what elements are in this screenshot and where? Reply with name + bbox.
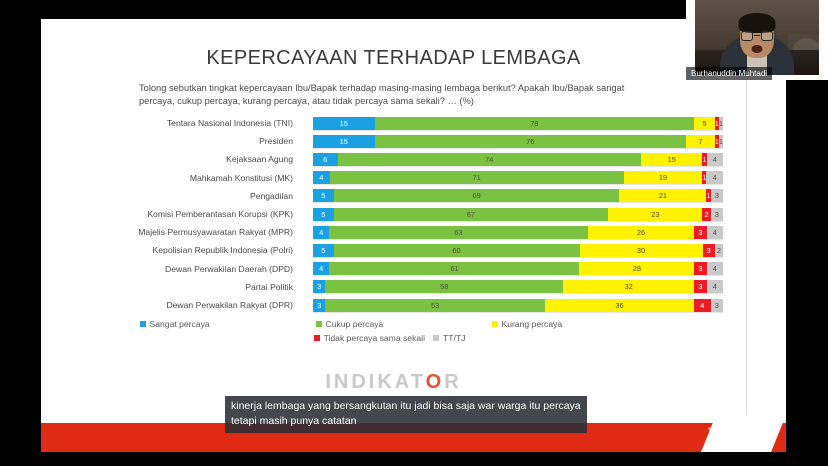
chart-row: Presiden1576711: [41, 132, 746, 150]
stacked-bar: 4711914: [313, 171, 723, 184]
bar-segment: 74: [338, 153, 641, 166]
chart-row: Majelis Permusyawaratan Rakyat (MPR)4632…: [41, 223, 746, 241]
bar-segment: 5: [313, 244, 334, 257]
chart-row: Pengadilan5692113: [41, 187, 746, 205]
stacked-bar: 5692113: [313, 189, 723, 202]
bar-segment: 78: [375, 117, 695, 130]
participant-name-label: Burhanuddin Muhtadi: [686, 67, 772, 80]
category-label: Kepolisian Republik Indonesia (Polri): [41, 241, 301, 259]
category-label: Kejaksaan Agung: [41, 150, 301, 168]
legend-swatch-icon: [140, 321, 146, 327]
bar-segment: 1: [719, 135, 723, 148]
bar-segment: 2: [715, 244, 723, 257]
bar-segment: 6: [313, 153, 338, 166]
chart-row: Kepolisian Republik Indonesia (Polri)560…: [41, 241, 746, 259]
bar-segment: 3: [313, 299, 325, 312]
bar-segment: 53: [325, 299, 544, 312]
watermark-post: R: [444, 371, 461, 393]
legend-label: Sangat percaya: [150, 319, 210, 329]
bar-segment: 3: [694, 280, 706, 293]
legend-item[interactable]: TT/TJ: [433, 333, 465, 343]
stacked-bar: 1576711: [313, 135, 723, 148]
bar-segment: 4: [313, 171, 330, 184]
bar-segment: 19: [624, 171, 703, 184]
participant-video-tile[interactable]: Burhanuddin Muhtadi: [686, 0, 828, 80]
bar-segment: 21: [619, 189, 706, 202]
bar-segment: 36: [545, 299, 694, 312]
category-label: Majelis Permusyawaratan Rakyat (MPR): [41, 223, 301, 241]
bar-segment: 3: [694, 262, 706, 275]
stacked-bar: 1578511: [313, 117, 723, 130]
caption-line-1: kinerja lembaga yang bersangkutan itu ja…: [231, 399, 581, 414]
page-title: KEPERCAYAAN TERHADAP LEMBAGA: [41, 47, 746, 70]
bar-segment: 4: [694, 299, 711, 312]
participant-mouth: [752, 45, 763, 53]
category-label: Pengadilan: [41, 187, 301, 205]
bar-segment: 63: [329, 226, 587, 239]
legend-item[interactable]: Tidak percaya sama sekali: [314, 333, 425, 343]
caption-line-2: tetapi masih punya catatan: [231, 414, 581, 429]
legend-item[interactable]: Sangat percaya: [130, 319, 306, 329]
category-label: Dewan Perwakilan Daerah (DPD): [41, 260, 301, 278]
bar-segment: 4: [707, 262, 723, 275]
bar-segment: 5: [313, 208, 334, 221]
bar-segment: 69: [334, 189, 620, 202]
category-label: Partai Politik: [41, 278, 301, 296]
bar-segment: 1: [719, 117, 723, 130]
watermark-pre: INDIKAT: [325, 371, 425, 393]
legend-row: Tidak percaya sama sekaliTT/TJ: [41, 333, 746, 343]
bar-segment: 15: [313, 117, 375, 130]
chart-row: Komisi Pemberantasan Korupsi (KPK)567232…: [41, 205, 746, 223]
bar-segment: 3: [703, 244, 715, 257]
stacked-bar: 5672323: [313, 208, 723, 221]
bar-segment: 15: [641, 153, 703, 166]
stacked-bar: 4612834: [313, 262, 723, 275]
legend-row: Sangat percayaCukup percayaKurang percay…: [41, 319, 746, 329]
bar-segment: 61: [329, 262, 579, 275]
shared-screen-slide: KEPERCAYAAN TERHADAP LEMBAGA Tolong sebu…: [41, 19, 786, 452]
slide-subtitle: Tolong sebutkan tingkat kepercayaan Ibu/…: [139, 82, 649, 107]
chart-row: Kejaksaan Agung6741514: [41, 150, 746, 168]
bar-segment: 7: [686, 135, 715, 148]
bar-segment: 15: [313, 135, 375, 148]
tile-letterbox-right: [819, 0, 828, 80]
bar-segment: 5: [694, 117, 715, 130]
bar-segment: 32: [563, 280, 694, 293]
legend-swatch-icon: [492, 321, 498, 327]
bar-segment: 30: [580, 244, 703, 257]
category-label: Mahkamah Konstitusi (MK): [41, 169, 301, 187]
bar-segment: 58: [325, 280, 563, 293]
legend-item[interactable]: Kurang percaya: [482, 319, 658, 329]
bar-segment: 67: [334, 208, 609, 221]
bar-segment: 3: [694, 226, 706, 239]
bar-segment: 28: [579, 262, 694, 275]
bar-segment: 4: [707, 153, 723, 166]
stacked-bar: 3533643: [313, 299, 723, 312]
bar-segment: 60: [334, 244, 580, 257]
category-label: Komisi Pemberantasan Korupsi (KPK): [41, 205, 301, 223]
zoom-meeting-stage: KEPERCAYAAN TERHADAP LEMBAGA Tolong sebu…: [0, 0, 828, 466]
bar-segment: 3: [711, 299, 723, 312]
stacked-bar: 5603032: [313, 244, 723, 257]
chart-row: Dewan Perwakilan Rakyat (DPR)3533643: [41, 296, 746, 314]
bar-segment: 76: [375, 135, 687, 148]
bar-segment: 4: [707, 226, 723, 239]
legend-label: Kurang percaya: [502, 319, 563, 329]
category-label: Dewan Perwakilan Rakyat (DPR): [41, 296, 301, 314]
bar-segment: 3: [313, 280, 325, 293]
bar-segment: 2: [702, 208, 710, 221]
stacked-bar-chart: Tentara Nasional Indonesia (TNI)1578511P…: [41, 114, 746, 319]
bar-segment: 4: [313, 226, 329, 239]
legend-swatch-icon: [433, 335, 439, 341]
stacked-bar: 4632634: [313, 226, 723, 239]
chart-row: Partai Politik3583234: [41, 278, 746, 296]
bar-segment: 3: [711, 208, 723, 221]
bar-segment: 71: [330, 171, 624, 184]
legend-swatch-icon: [314, 335, 320, 341]
watermark-dot: O: [426, 371, 445, 393]
bar-segment: 4: [707, 280, 723, 293]
stacked-bar: 3583234: [313, 280, 723, 293]
legend-label: Cukup percaya: [326, 319, 384, 329]
legend-label: Tidak percaya sama sekali: [324, 333, 425, 343]
bar-segment: 5: [313, 189, 334, 202]
category-label: Tentara Nasional Indonesia (TNI): [41, 114, 301, 132]
participant-hair: [739, 13, 776, 33]
legend-label: TT/TJ: [443, 333, 465, 343]
chart-legend: Sangat percayaCukup percayaKurang percay…: [41, 319, 746, 347]
chart-row: Dewan Perwakilan Daerah (DPD)4612834: [41, 260, 746, 278]
slide-canvas: KEPERCAYAAN TERHADAP LEMBAGA Tolong sebu…: [41, 19, 747, 432]
category-label: Presiden: [41, 132, 301, 150]
eyeglasses-icon: [741, 31, 773, 41]
chart-row: Tentara Nasional Indonesia (TNI)1578511: [41, 114, 746, 132]
legend-item[interactable]: Cukup percaya: [306, 319, 482, 329]
legend-swatch-icon: [316, 321, 322, 327]
bar-segment: 23: [608, 208, 702, 221]
bar-segment: 3: [711, 189, 723, 202]
indikator-watermark: INDIKATOR: [41, 371, 746, 394]
chart-row: Mahkamah Konstitusi (MK)4711914: [41, 169, 746, 187]
live-caption-overlay: kinerja lembaga yang bersangkutan itu ja…: [225, 396, 587, 433]
bar-segment: 4: [313, 262, 329, 275]
bar-segment: 4: [706, 171, 723, 184]
bar-segment: 26: [588, 226, 695, 239]
stacked-bar: 6741514: [313, 153, 723, 166]
